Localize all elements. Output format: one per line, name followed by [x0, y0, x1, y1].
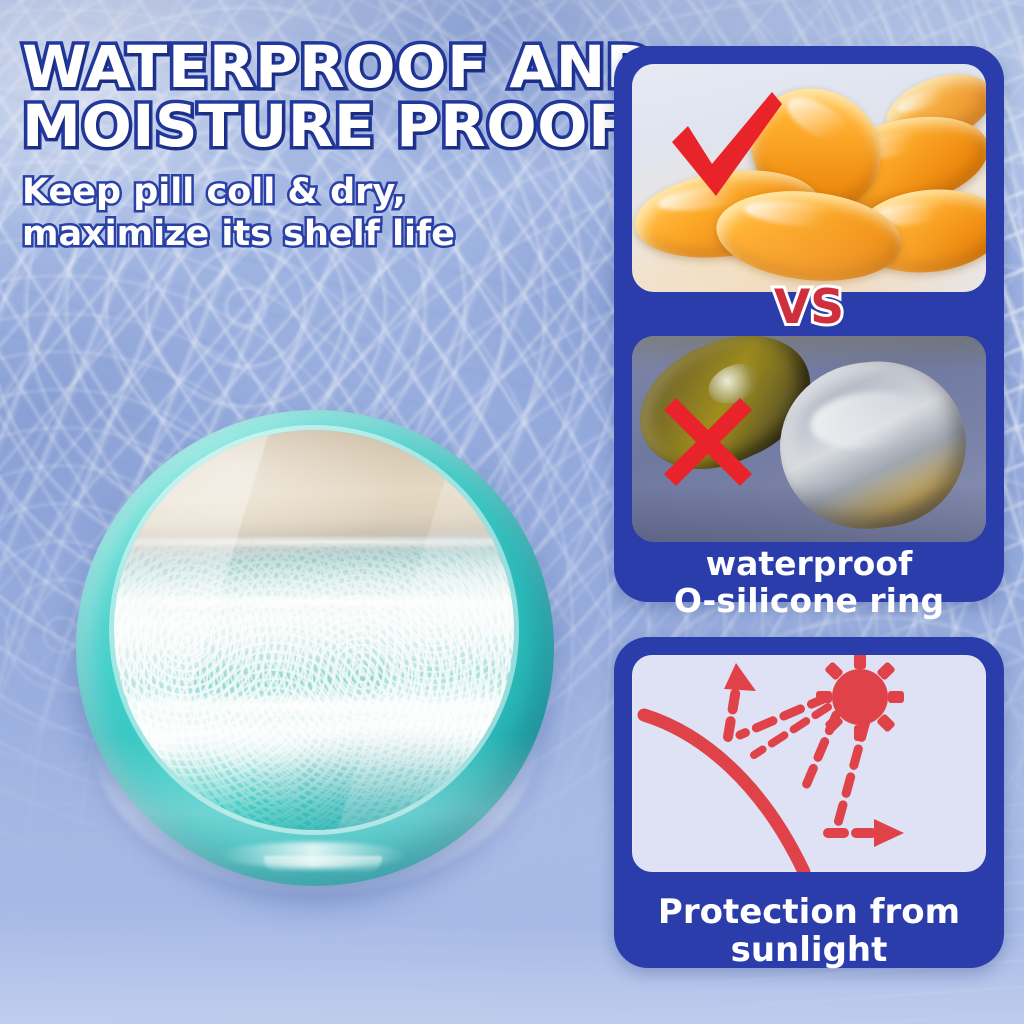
- comparison-caption: waterproof O-silicone ring: [614, 546, 1004, 620]
- headline-line-2: MOISTURE PROOF: [22, 97, 614, 156]
- sun-reflection-illustration: [632, 655, 986, 872]
- lid-ocean-photo: [114, 430, 514, 830]
- sunlight-caption-line-1: Protection from: [614, 893, 1004, 931]
- product-infographic: WATERPROOF AND MOISTURE PROOF Keep pill …: [0, 0, 1024, 1024]
- sun-icon: [816, 655, 904, 741]
- sunlight-panel: Protection from sunlight: [614, 637, 1004, 968]
- reflected-ray-up: [728, 689, 736, 737]
- check-mark-icon: [668, 90, 786, 200]
- versus-label: VS: [614, 280, 1004, 335]
- headline-line-1: WATERPROOF AND: [22, 38, 614, 97]
- sunlight-caption: Protection from sunlight: [614, 893, 1004, 969]
- page-subtitle: Keep pill coll & dry, maximize its shelf…: [22, 172, 602, 255]
- product-image: [68, 404, 568, 904]
- subheadline-line-2: maximize its shelf life: [22, 214, 602, 255]
- arrow-head-up: [724, 663, 756, 691]
- bad-capsules-photo: [632, 336, 986, 542]
- sunlight-diagram: [632, 655, 986, 872]
- good-capsules-photo: [632, 64, 986, 292]
- comparison-panel: VS waterproof O-silicone ring: [614, 46, 1004, 602]
- headline-block: WATERPROOF AND MOISTURE PROOF Keep pill …: [22, 38, 602, 255]
- sunlight-caption-line-2: sunlight: [614, 931, 1004, 969]
- product-latch: [264, 856, 382, 872]
- arrow-head-right: [874, 819, 904, 847]
- lid-glass-gloss: [114, 430, 514, 830]
- cross-mark-icon: [662, 396, 754, 488]
- page-title: WATERPROOF AND MOISTURE PROOF: [22, 38, 614, 156]
- subheadline-line-1: Keep pill coll & dry,: [22, 172, 602, 213]
- product-printed-lid: [114, 430, 514, 830]
- comparison-caption-line-1: waterproof: [614, 546, 1004, 583]
- comparison-caption-line-2: O-silicone ring: [614, 583, 1004, 620]
